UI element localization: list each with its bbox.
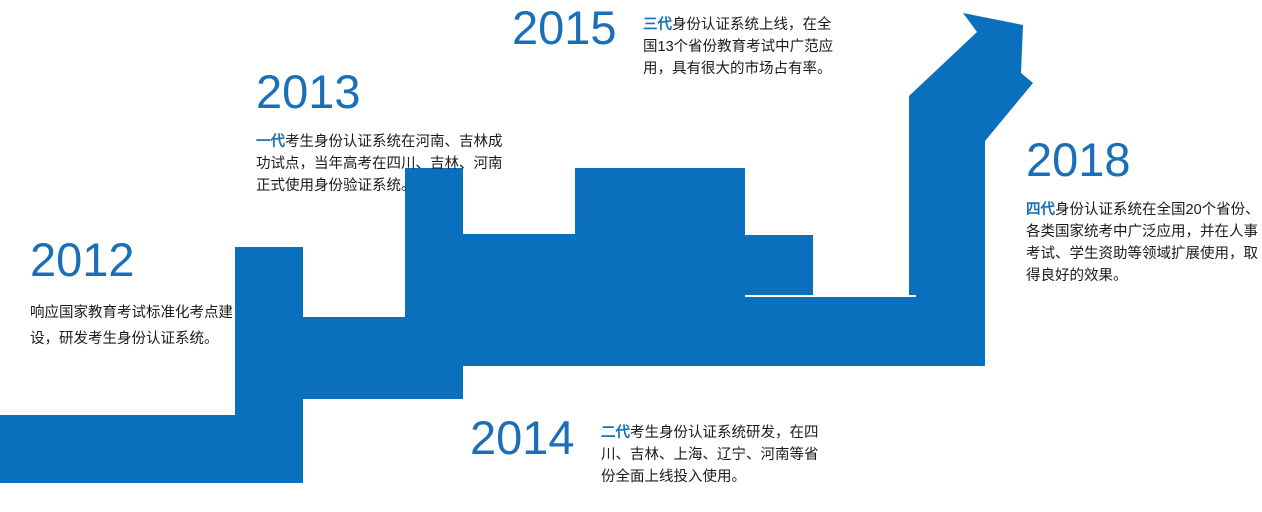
generation-tag-2015: 三代 bbox=[643, 17, 672, 33]
description-2012: 响应国家教育考试标准化考点建设，研发考生身份认证系统。 bbox=[30, 301, 260, 353]
year-label-2013: 2013 bbox=[256, 68, 506, 115]
step-block-4 bbox=[745, 235, 813, 295]
step-block-2 bbox=[303, 168, 463, 399]
description-2014: 二代考生身份认证系统研发，在四川、吉林、上海、辽宁、河南等省份全面上线投入使用。 bbox=[601, 422, 831, 488]
milestone-2012: 2012 响应国家教育考试标准化考点建设，研发考生身份认证系统。 bbox=[30, 236, 260, 353]
description-text-2014: 考生身份认证系统研发，在四川、吉林、上海、辽宁、河南等省份全面上线投入使用。 bbox=[601, 425, 819, 485]
generation-tag-2013: 一代 bbox=[256, 134, 285, 150]
description-2015: 三代身份认证系统上线，在全国13个省份教育考试中广范应用，具有很大的市场占有率。 bbox=[643, 14, 839, 80]
milestone-2013: 2013 一代考生身份认证系统在河南、吉林成功试点，当年高考在四川、吉林、河南正… bbox=[256, 68, 506, 197]
step-block-5 bbox=[744, 297, 916, 366]
year-label-2014: 2014 bbox=[470, 414, 575, 461]
milestone-2014: 2014 二代考生身份认证系统研发，在四川、吉林、上海、辽宁、河南等省份全面上线… bbox=[470, 414, 840, 488]
description-2013: 一代考生身份认证系统在河南、吉林成功试点，当年高考在四川、吉林、河南正式使用身份… bbox=[256, 131, 506, 197]
description-text-2018: 身份认证系统在全国20个省份、各类国家统考中广泛应用，并在人事考试、学生资助等领… bbox=[1026, 202, 1260, 284]
arrow-shaft-head bbox=[909, 13, 1033, 366]
description-text-2012: 响应国家教育考试标准化考点建设，研发考生身份认证系统。 bbox=[30, 305, 233, 347]
description-2018: 四代身份认证系统在全国20个省份、各类国家统考中广泛应用，并在人事考试、学生资助… bbox=[1026, 199, 1262, 287]
year-label-2015: 2015 bbox=[512, 4, 617, 51]
generation-tag-2018: 四代 bbox=[1026, 202, 1055, 218]
generation-tag-2014: 二代 bbox=[601, 425, 630, 441]
description-text-2013: 考生身份认证系统在河南、吉林成功试点，当年高考在四川、吉林、河南正式使用身份验证… bbox=[256, 134, 503, 194]
milestone-2015: 2015 三代身份认证系统上线，在全国13个省份教育考试中广范应用，具有很大的市… bbox=[512, 4, 872, 80]
description-text-2015: 身份认证系统上线，在全国13个省份教育考试中广范应用，具有很大的市场占有率。 bbox=[643, 17, 833, 77]
step-block-3 bbox=[463, 168, 745, 366]
milestone-2018: 2018 四代身份认证系统在全国20个省份、各类国家统考中广泛应用，并在人事考试… bbox=[1026, 136, 1262, 287]
infographic-canvas: 2012 响应国家教育考试标准化考点建设，研发考生身份认证系统。 2013 一代… bbox=[0, 0, 1262, 512]
year-label-2018: 2018 bbox=[1026, 136, 1262, 183]
year-label-2012: 2012 bbox=[30, 236, 260, 283]
